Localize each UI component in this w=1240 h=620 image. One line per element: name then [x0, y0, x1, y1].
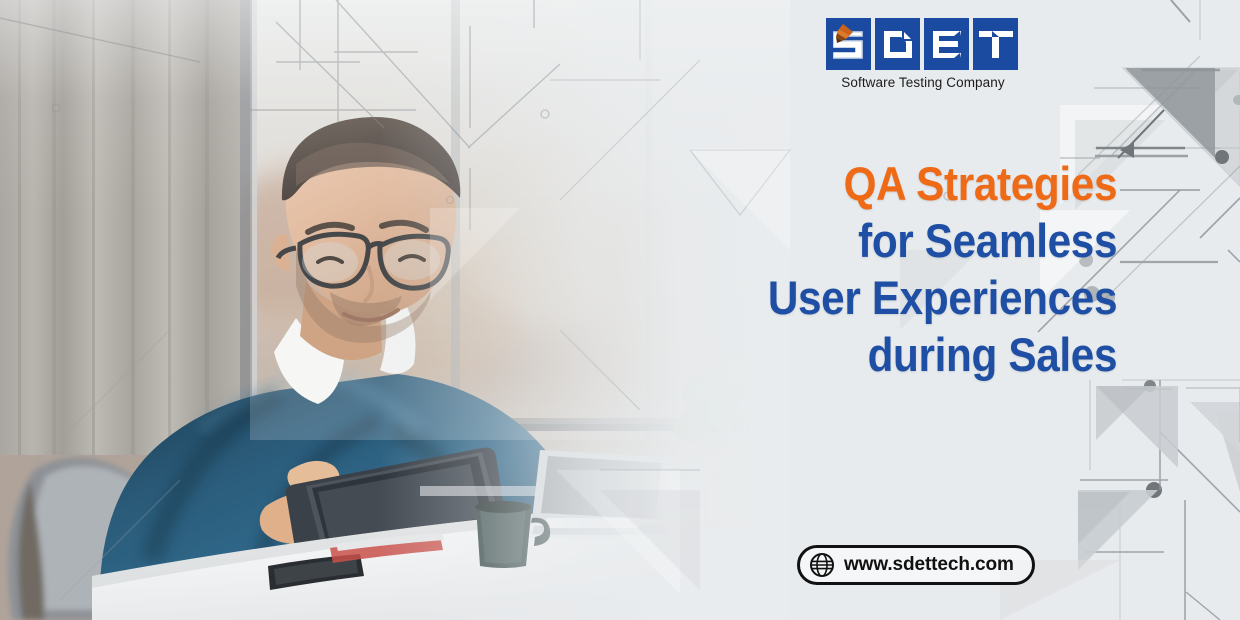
banner: Software Testing Company QA Strategies f…: [0, 0, 1240, 620]
logo-tagline: Software Testing Company: [826, 75, 1020, 90]
logo-letter-boxes: [826, 18, 1020, 70]
headline: QA Strategies for Seamless User Experien…: [729, 155, 1117, 383]
logo-box-e: [924, 18, 969, 70]
logo-box-t: [973, 18, 1018, 70]
logo-box-d: [875, 18, 920, 70]
pen-accent-icon: [836, 24, 853, 43]
headline-line-4: during Sales: [768, 326, 1117, 383]
headline-line-2: for Seamless: [768, 212, 1117, 269]
website-badge[interactable]: www.sdettech.com: [797, 545, 1035, 585]
sdet-logo[interactable]: Software Testing Company: [826, 18, 1020, 90]
logo-box-s: [826, 18, 871, 70]
headline-line-3: User Experiences: [768, 269, 1117, 326]
headline-line-1: QA Strategies: [768, 155, 1117, 212]
website-url: www.sdettech.com: [844, 554, 1014, 576]
globe-icon: [809, 552, 835, 578]
